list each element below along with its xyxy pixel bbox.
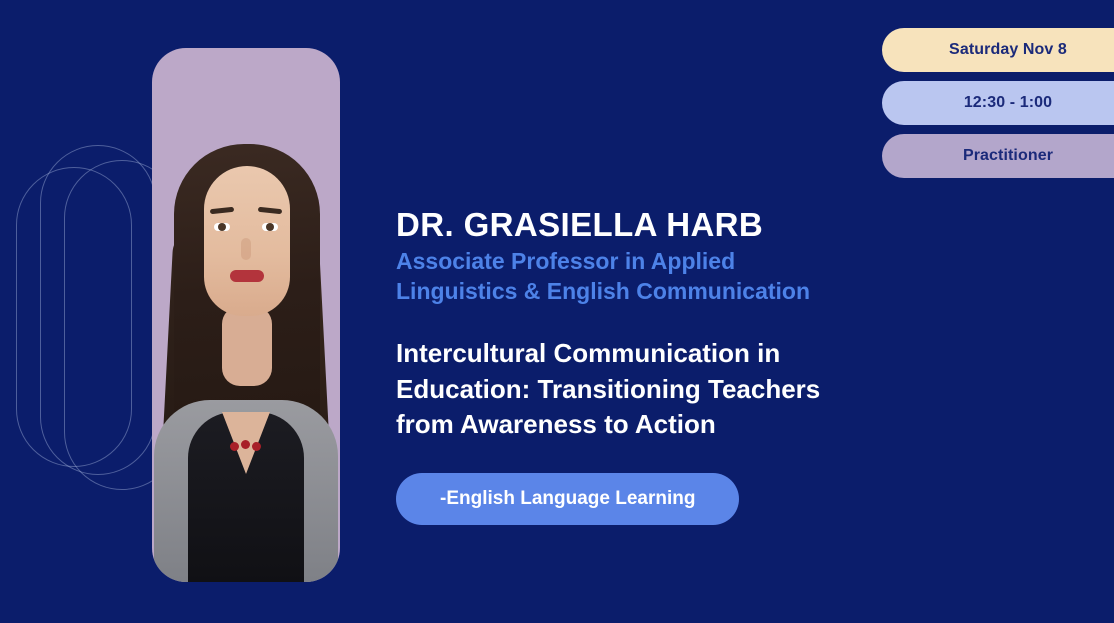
- necklace-bead: [241, 440, 250, 449]
- badge-level: Practitioner: [882, 134, 1114, 178]
- rounded-outline-shape-2: [40, 145, 156, 475]
- session-details: DR. GRASIELLA HARB Associate Professor i…: [396, 206, 1026, 525]
- session-meta-badges: Saturday Nov 8 12:30 - 1:00 Practitioner: [882, 28, 1114, 187]
- session-title-line-2: Education: Transitioning Teachers: [396, 372, 1026, 408]
- portrait-iris-right: [266, 223, 274, 231]
- badge-date: Saturday Nov 8: [882, 28, 1114, 72]
- speaker-role-line-2: Linguistics & English Communication: [396, 277, 1026, 306]
- speaker-session-card: Saturday Nov 8 12:30 - 1:00 Practitioner…: [0, 0, 1114, 623]
- session-title: Intercultural Communication in Education…: [396, 336, 1026, 443]
- session-topic-tag[interactable]: -English Language Learning: [396, 473, 739, 525]
- session-title-line-1: Intercultural Communication in: [396, 336, 1026, 372]
- badge-time: 12:30 - 1:00: [882, 81, 1114, 125]
- portrait-lips: [230, 270, 264, 282]
- speaker-portrait-image: [152, 48, 340, 582]
- speaker-role: Associate Professor in Applied Linguisti…: [396, 247, 1026, 306]
- necklace-bead: [252, 442, 261, 451]
- portrait-neck: [222, 306, 272, 386]
- rounded-outline-shape-1: [16, 167, 132, 467]
- speaker-photo-card: [152, 48, 340, 582]
- portrait-nose: [241, 238, 251, 260]
- portrait-necklace: [230, 440, 262, 450]
- speaker-role-line-1: Associate Professor in Applied: [396, 247, 1026, 276]
- portrait-iris-left: [218, 223, 226, 231]
- speaker-name: DR. GRASIELLA HARB: [396, 206, 1026, 244]
- necklace-bead: [230, 442, 239, 451]
- session-title-line-3: from Awareness to Action: [396, 407, 1026, 443]
